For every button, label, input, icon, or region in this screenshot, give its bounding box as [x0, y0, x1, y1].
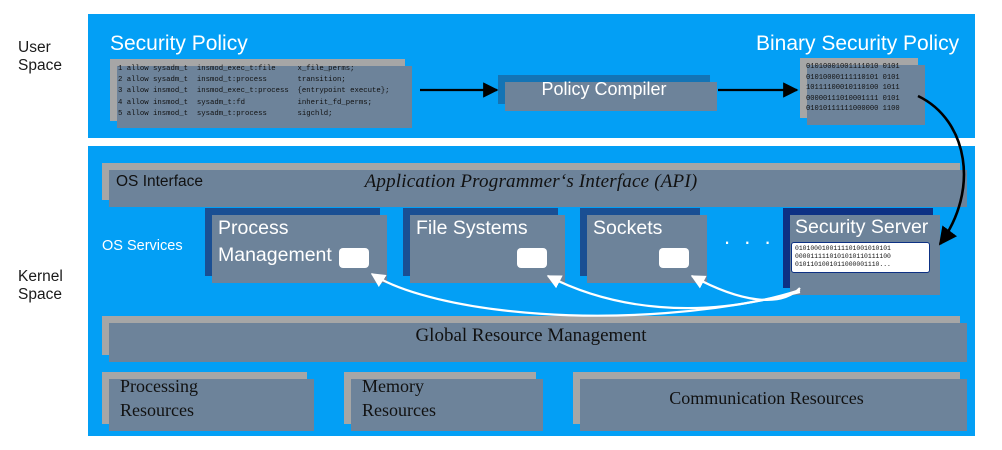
services-ellipsis: . . .: [724, 224, 775, 250]
global-resource-management-bar: Global Resource Management: [102, 316, 960, 355]
service-label: Sockets: [593, 215, 662, 242]
security-server-binary-block: 0101000100111101001010101 00001111101010…: [791, 242, 930, 273]
api-label: Application Programmer‘s Interface (API): [102, 171, 960, 193]
global-resource-management-label: Global Resource Management: [415, 325, 646, 347]
policy-compiler-box[interactable]: Policy Compiler: [498, 75, 710, 104]
resource-box-communication: Communication Resources: [573, 372, 960, 424]
diagram-canvas: User Space Kernel Space Security Policy …: [0, 0, 1002, 450]
binary-security-policy-title: Binary Security Policy: [756, 32, 959, 56]
service-box-sockets[interactable]: Sockets: [580, 208, 700, 276]
service-box-file-systems[interactable]: File Systems: [403, 208, 558, 276]
security-hook-icon[interactable]: [339, 248, 369, 268]
resource-box-processing: Processing Resources: [102, 372, 307, 424]
os-interface-bar: OS Interface Application Programmer‘s In…: [102, 163, 960, 200]
resource-label: Processing Resources: [102, 374, 198, 422]
security-server-label: Security Server: [795, 214, 928, 241]
resource-label: Communication Resources: [669, 386, 863, 410]
security-hook-icon[interactable]: [659, 248, 689, 268]
os-services-label: OS Services: [102, 238, 183, 254]
user-space-label: User Space: [18, 39, 62, 75]
service-box-security-server[interactable]: Security Server 010100010011110100101010…: [783, 208, 933, 288]
security-hook-icon[interactable]: [517, 248, 547, 268]
security-policy-code-block: 1 allow sysadm_t insmod_exec_t:file x_fi…: [110, 59, 405, 121]
service-label: Process Management: [218, 215, 332, 269]
service-box-process-management[interactable]: Process Management: [205, 208, 380, 276]
resource-label: Memory Resources: [344, 374, 436, 422]
kernel-space-label: Kernel Space: [18, 268, 63, 304]
security-policy-title: Security Policy: [110, 32, 248, 56]
binary-security-policy-block: 01010001001111010 0101 01010000111110101…: [800, 58, 918, 118]
service-label: File Systems: [416, 215, 528, 242]
resource-box-memory: Memory Resources: [344, 372, 536, 424]
policy-compiler-label: Policy Compiler: [541, 79, 666, 100]
